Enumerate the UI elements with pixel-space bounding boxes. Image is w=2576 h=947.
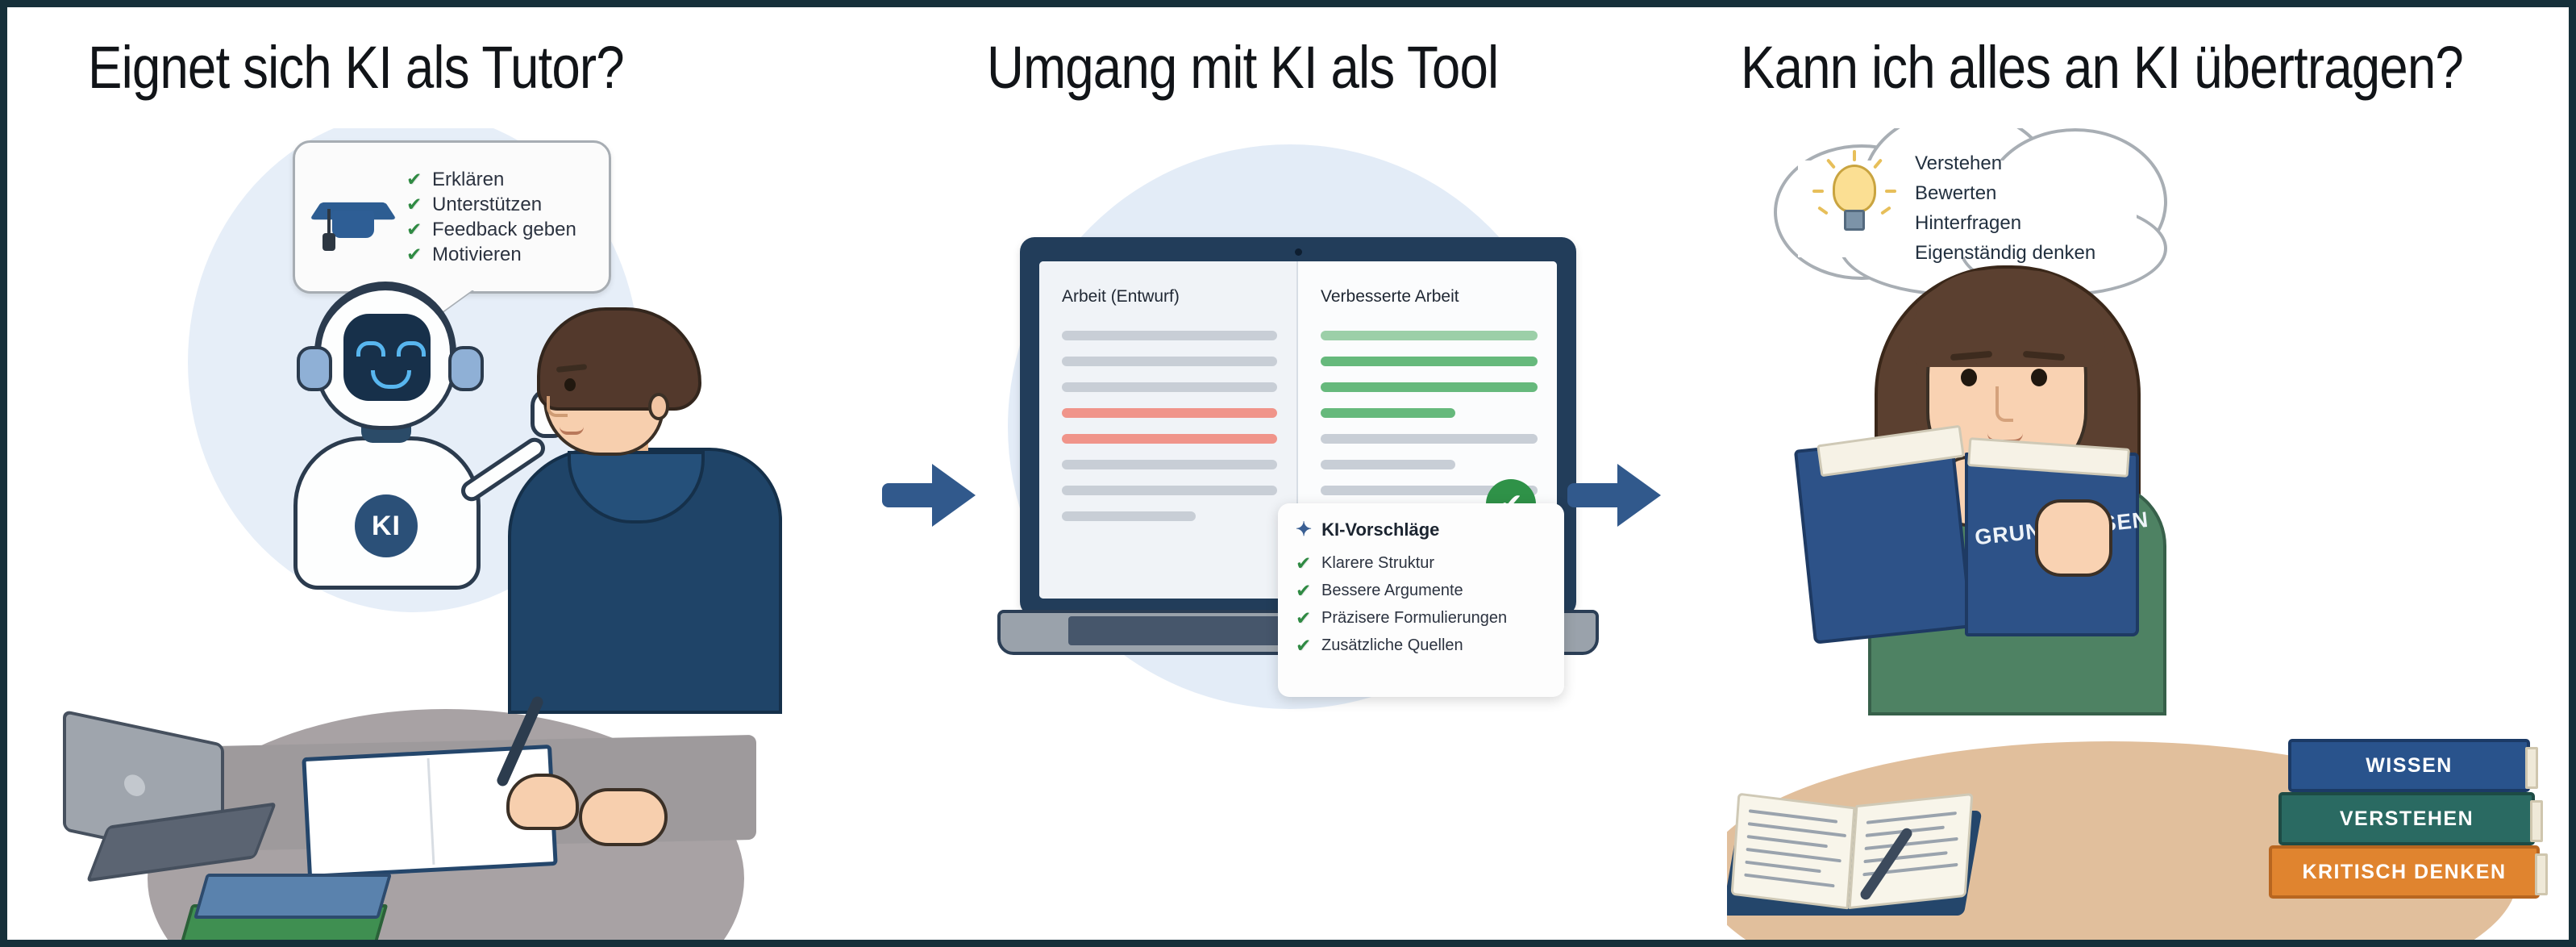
panel1-book-blue xyxy=(194,874,392,919)
thought-line: Hinterfragen xyxy=(1915,212,2095,235)
headings-row: Eignet sich KI als Tutor? Umgang mit KI … xyxy=(7,7,2569,136)
list-item: ✔ Feedback geben xyxy=(406,219,576,241)
list-item-label: Unterstützen xyxy=(432,194,542,216)
book-label: KRITISCH DENKEN xyxy=(2302,861,2506,884)
ai-suggestions-header: ✦ KI-Vorschläge xyxy=(1296,518,1546,541)
ai-suggestions-title: KI-Vorschläge xyxy=(1321,519,1439,540)
graduation-cap-icon xyxy=(314,185,392,249)
list-item-label: Bessere Argumente xyxy=(1321,582,1463,600)
thought-line: Bewerten xyxy=(1915,182,2095,205)
list-item-label: Erklären xyxy=(432,169,504,191)
book-critical-thinking: KRITISCH DENKEN xyxy=(2269,845,2540,899)
check-icon: ✔ xyxy=(406,171,423,188)
panel2-heading: Umgang mit KI als Tool xyxy=(987,38,1498,98)
panel-critical-thinking: Verstehen Bewerten Hinterfragen Eigenstä… xyxy=(1727,128,2569,943)
ai-suggestions-card: ✦ KI-Vorschläge ✔ Klarere Struktur ✔ Bes… xyxy=(1278,503,1564,697)
list-item-label: Motivieren xyxy=(432,244,522,266)
arrow-panel2-to-panel3 xyxy=(1567,464,1661,527)
panel3-heading: Kann ich alles an KI übertragen? xyxy=(1741,38,2463,98)
list-item-label: Klarere Struktur xyxy=(1321,554,1434,573)
book-label: WISSEN xyxy=(2366,754,2453,778)
book-label: VERSTEHEN xyxy=(2340,807,2474,831)
sparkle-icon: ✦ xyxy=(1296,518,1312,541)
check-icon: ✔ xyxy=(406,221,423,238)
list-item: ✔ Bessere Argumente xyxy=(1296,582,1546,600)
ai-robot-figure: KI xyxy=(264,286,506,601)
list-item-label: Präzisere Formulierungen xyxy=(1321,609,1507,628)
headphone-icon xyxy=(297,346,332,391)
list-item-label: Zusätzliche Quellen xyxy=(1321,636,1463,655)
improved-column-title: Verbesserte Arbeit xyxy=(1321,287,1538,307)
panel3-open-notebook xyxy=(1731,788,1973,925)
list-item-label: Feedback geben xyxy=(432,219,576,241)
webcam-icon xyxy=(1295,248,1302,256)
check-icon: ✔ xyxy=(1296,610,1313,627)
thought-line: Verstehen xyxy=(1915,152,2095,175)
student-writing-hand xyxy=(506,774,579,830)
student-figure xyxy=(490,290,797,709)
robot-chest-badge: KI xyxy=(355,494,418,557)
check-icon: ✔ xyxy=(406,196,423,213)
student-resting-hand xyxy=(579,788,668,846)
list-item: ✔ Erklären xyxy=(406,169,576,191)
panel1-laptop xyxy=(63,727,273,880)
panel1-heading: Eignet sich KI als Tutor? xyxy=(88,38,624,98)
infographic-slide: Eignet sich KI als Tutor? Umgang mit KI … xyxy=(0,0,2576,947)
tutor-speech-bubble: ✔ Erklären ✔ Unterstützen ✔ Feedback geb… xyxy=(293,140,611,294)
check-icon: ✔ xyxy=(1296,555,1313,572)
book-knowledge: WISSEN xyxy=(2288,739,2530,792)
lightbulb-icon xyxy=(1826,165,1883,239)
book-holding-hand xyxy=(2035,499,2112,577)
panel-ai-as-tool: Arbeit (Entwurf) Verbesserte Arbeit xyxy=(871,128,1727,943)
headphone-icon xyxy=(448,346,484,391)
panel-ai-as-tutor: ✔ Erklären ✔ Unterstützen ✔ Feedback geb… xyxy=(15,128,871,943)
tutor-capability-list: ✔ Erklären ✔ Unterstützen ✔ Feedback geb… xyxy=(406,169,576,266)
check-icon: ✔ xyxy=(1296,637,1313,654)
check-icon: ✔ xyxy=(1296,582,1313,599)
knowledge-book-stack: KRITISCH DENKEN VERSTEHEN WISSEN xyxy=(2288,739,2554,928)
list-item: ✔ Klarere Struktur xyxy=(1296,554,1546,573)
list-item: ✔ Präzisere Formulierungen xyxy=(1296,609,1546,628)
draft-column-title: Arbeit (Entwurf) xyxy=(1062,287,1277,307)
list-item: ✔ Zusätzliche Quellen xyxy=(1296,636,1546,655)
list-item: ✔ Unterstützen xyxy=(406,194,576,216)
list-item: ✔ Motivieren xyxy=(406,244,576,266)
thought-cloud-list: Verstehen Bewerten Hinterfragen Eigenstä… xyxy=(1915,152,2095,265)
book-understanding: VERSTEHEN xyxy=(2278,792,2535,845)
arrow-panel1-to-panel2 xyxy=(882,464,976,527)
draft-column: Arbeit (Entwurf) xyxy=(1039,261,1298,599)
thought-line: Eigenständig denken xyxy=(1915,242,2095,265)
check-icon: ✔ xyxy=(406,246,423,263)
